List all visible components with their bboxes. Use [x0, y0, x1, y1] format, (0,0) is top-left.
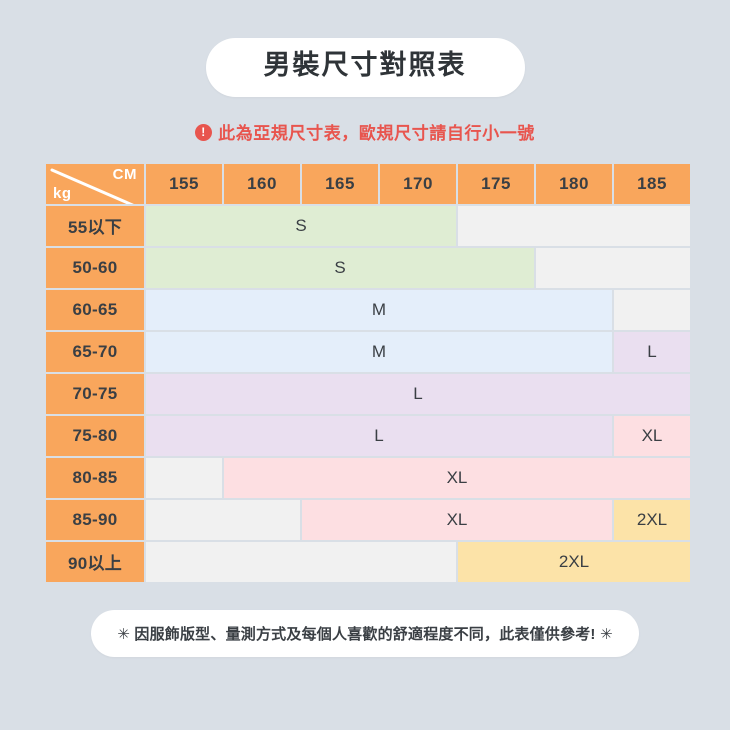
row-label-60-65: 60-65 [46, 290, 144, 330]
header-row: CM kg 155 160 165 170 175 180 185 [46, 164, 690, 204]
row-label-75-80: 75-80 [46, 416, 144, 456]
table-row: 80-85XL [46, 458, 690, 498]
column-header-175: 175 [458, 164, 534, 204]
size-table-wrapper: CM kg 155 160 165 170 175 180 185 55以下S5… [44, 162, 686, 584]
row-label-85-90: 85-90 [46, 500, 144, 540]
notice-banner: ! 此為亞規尺寸表，歐規尺寸請自行小一號 [195, 119, 535, 144]
exclamation-circle-icon: ! [195, 124, 212, 141]
table-row: 70-75L [46, 374, 690, 414]
size-cell-S: S [146, 248, 534, 288]
size-cell-empty [536, 248, 690, 288]
footer-pill: ✳ 因服飾版型、量測方式及每個人喜歡的舒適程度不同，此表僅供參考! ✳ [91, 610, 638, 657]
table-head: CM kg 155 160 165 170 175 180 185 [46, 164, 690, 204]
table-row: 65-70ML [46, 332, 690, 372]
size-cell-L: L [146, 416, 612, 456]
size-cell-XL: XL [224, 458, 690, 498]
size-cell-XL: XL [614, 416, 690, 456]
size-cell-M: M [146, 290, 612, 330]
page-title: 男裝尺寸對照表 [264, 51, 467, 81]
column-header-170: 170 [380, 164, 456, 204]
size-cell-M: M [146, 332, 612, 372]
size-cell-2XL: 2XL [458, 542, 690, 582]
table-row: 75-80LXL [46, 416, 690, 456]
corner-cell: CM kg [46, 164, 144, 204]
row-label-80-85: 80-85 [46, 458, 144, 498]
size-cell-empty [458, 206, 690, 246]
corner-kg-label: kg [53, 185, 72, 202]
size-cell-2XL: 2XL [614, 500, 690, 540]
row-label-65-70: 65-70 [46, 332, 144, 372]
size-cell-empty [146, 500, 300, 540]
size-cell-S: S [146, 206, 456, 246]
column-header-160: 160 [224, 164, 300, 204]
row-label-90以上: 90以上 [46, 542, 144, 582]
size-cell-XL: XL [302, 500, 612, 540]
table-row: 85-90XL2XL [46, 500, 690, 540]
table-row: 50-60S [46, 248, 690, 288]
size-cell-empty [146, 542, 456, 582]
column-header-180: 180 [536, 164, 612, 204]
table-body: 55以下S50-60S60-65M65-70ML70-75L75-80LXL80… [46, 206, 690, 582]
size-table: CM kg 155 160 165 170 175 180 185 55以下S5… [44, 162, 692, 584]
table-row: 90以上2XL [46, 542, 690, 582]
row-label-50-60: 50-60 [46, 248, 144, 288]
column-header-185: 185 [614, 164, 690, 204]
table-row: 60-65M [46, 290, 690, 330]
size-cell-L: L [146, 374, 690, 414]
footer-note: ✳ 因服飾版型、量測方式及每個人喜歡的舒適程度不同，此表僅供參考! ✳ [117, 623, 612, 644]
corner-cm-label: CM [113, 166, 137, 183]
size-cell-empty [614, 290, 690, 330]
row-label-55以下: 55以下 [46, 206, 144, 246]
size-chart-page: 男裝尺寸對照表 ! 此為亞規尺寸表，歐規尺寸請自行小一號 CM kg [0, 0, 730, 730]
title-pill: 男裝尺寸對照表 [206, 38, 525, 97]
size-cell-empty [146, 458, 222, 498]
row-label-70-75: 70-75 [46, 374, 144, 414]
column-header-155: 155 [146, 164, 222, 204]
size-cell-L: L [614, 332, 690, 372]
table-row: 55以下S [46, 206, 690, 246]
notice-text: 此為亞規尺寸表，歐規尺寸請自行小一號 [218, 119, 535, 144]
column-header-165: 165 [302, 164, 378, 204]
